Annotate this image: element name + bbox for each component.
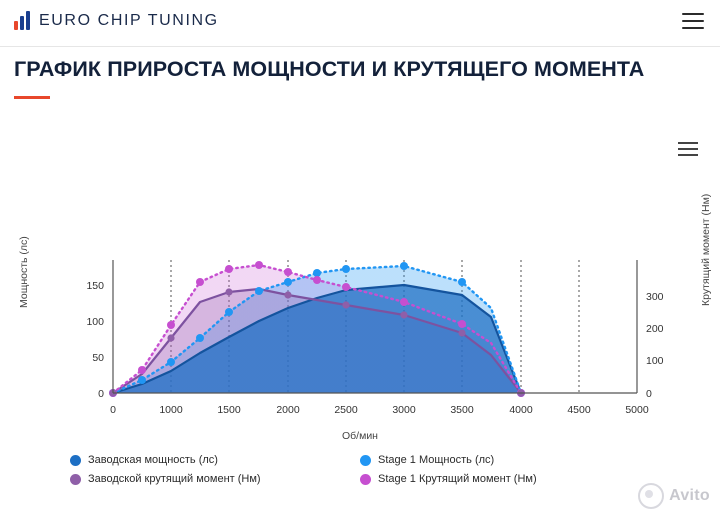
svg-text:0: 0 <box>98 388 104 400</box>
chart-plot-area: 0 50 100 150 0 100 200 300 0 1000 1500 <box>0 112 720 452</box>
svg-text:4000: 4000 <box>509 404 533 416</box>
legend-item-stage1-torque[interactable]: Stage 1 Крутящий момент (Нм) <box>360 473 650 485</box>
svg-text:5000: 5000 <box>625 404 649 416</box>
legend-column-left: Заводская мощность (лс) Заводской крутящ… <box>70 454 360 485</box>
y-axis-left-ticks: 0 50 100 150 <box>86 280 104 400</box>
svg-text:3000: 3000 <box>392 404 416 416</box>
svg-text:3500: 3500 <box>450 404 474 416</box>
svg-text:1000: 1000 <box>159 404 183 416</box>
watermark-text: Avito <box>669 487 710 505</box>
legend-label: Заводской крутящий момент (Нм) <box>88 473 261 485</box>
legend-swatch-icon <box>70 455 81 466</box>
legend-swatch-icon <box>70 474 81 485</box>
svg-text:1500: 1500 <box>217 404 241 416</box>
hamburger-icon[interactable] <box>682 13 704 31</box>
legend-swatch-icon <box>360 455 371 466</box>
title-underline <box>14 96 50 99</box>
x-axis-ticks: 0 1000 1500 2000 2500 3000 3500 4000 450… <box>110 404 649 416</box>
svg-text:200: 200 <box>646 323 664 335</box>
page-title: ГРАФИК ПРИРОСТА МОЩНОСТИ И КРУТЯЩЕГО МОМ… <box>14 57 704 82</box>
y-axis-right-label: Крутящий момент (Нм) <box>700 194 712 306</box>
brand-name: EURO CHIP TUNING <box>39 12 219 30</box>
y-axis-right-ticks: 0 100 200 300 <box>646 291 664 400</box>
svg-text:300: 300 <box>646 291 664 303</box>
svg-text:50: 50 <box>92 352 104 364</box>
chart-legend: Заводская мощность (лс) Заводской крутящ… <box>0 454 720 485</box>
svg-text:2000: 2000 <box>276 404 300 416</box>
bars-logo-icon <box>14 11 30 30</box>
legend-item-stage1-power[interactable]: Stage 1 Мощность (лс) <box>360 454 650 466</box>
site-header: EURO CHIP TUNING <box>0 0 720 47</box>
svg-text:2500: 2500 <box>334 404 358 416</box>
y-axis-left-label: Мощность (лс) <box>18 236 30 308</box>
legend-column-right: Stage 1 Мощность (лс) Stage 1 Крутящий м… <box>360 454 650 485</box>
avito-watermark: Avito <box>638 483 710 509</box>
legend-label: Stage 1 Крутящий момент (Нм) <box>378 473 537 485</box>
brand-logo[interactable]: EURO CHIP TUNING <box>14 11 219 30</box>
legend-swatch-icon <box>360 474 371 485</box>
avito-logo-icon <box>638 483 664 509</box>
page-root: EURO CHIP TUNING ГРАФИК ПРИРОСТА МОЩНОСТ… <box>0 0 720 517</box>
legend-label: Заводская мощность (лс) <box>88 454 218 466</box>
svg-text:0: 0 <box>110 404 116 416</box>
legend-item-stock-power[interactable]: Заводская мощность (лс) <box>70 454 360 466</box>
svg-text:0: 0 <box>646 388 652 400</box>
svg-text:150: 150 <box>86 280 104 292</box>
svg-text:4500: 4500 <box>567 404 591 416</box>
legend-label: Stage 1 Мощность (лс) <box>378 454 494 466</box>
svg-text:100: 100 <box>646 355 664 367</box>
legend-item-stock-torque[interactable]: Заводской крутящий момент (Нм) <box>70 473 360 485</box>
svg-text:100: 100 <box>86 316 104 328</box>
x-axis-label: Об/мин <box>0 430 720 442</box>
chart-card: 0 50 100 150 0 100 200 300 0 1000 1500 <box>0 112 720 517</box>
chart-svg: 0 50 100 150 0 100 200 300 0 1000 1500 <box>0 112 720 452</box>
